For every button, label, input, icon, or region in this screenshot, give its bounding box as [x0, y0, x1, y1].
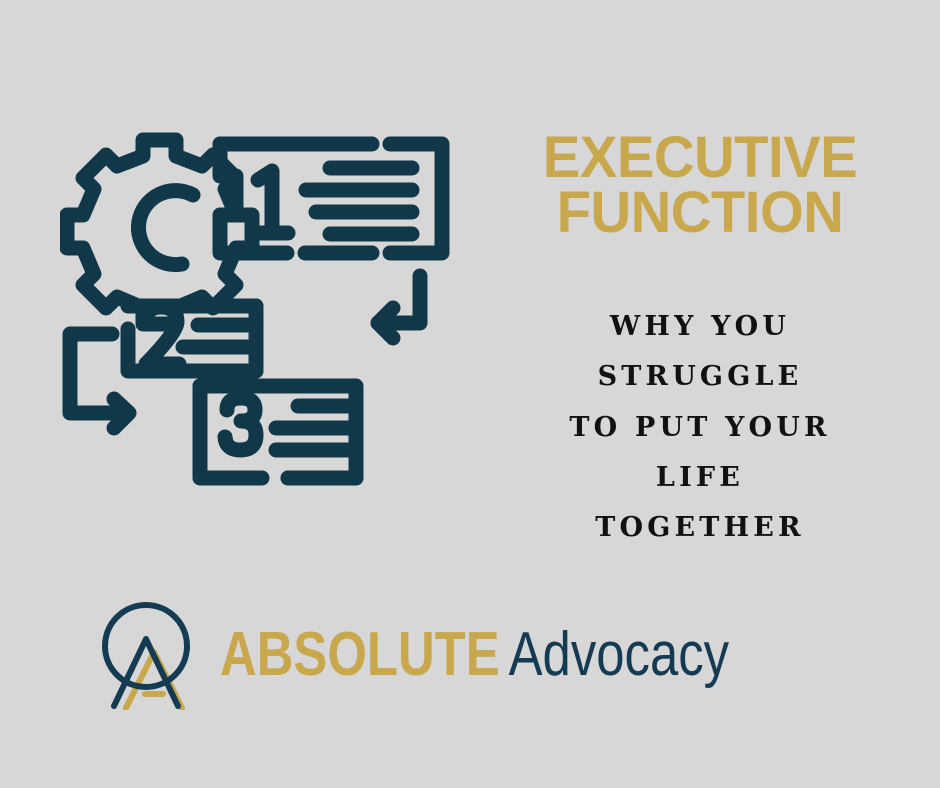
subtitle-line-5: TOGETHER — [500, 503, 900, 553]
subtitle-line-3: TO PUT YOUR — [500, 403, 900, 453]
subtitle-line-4: LIFE — [500, 453, 900, 503]
brand-name-primary: ABSOLUTE — [220, 624, 500, 686]
poster-canvas: EXECUTIVE FUNCTION WHY YOU STRUGGLE TO P… — [0, 0, 940, 788]
headline-line-1: EXECUTIVE — [506, 130, 894, 185]
artwork-panel — [60, 118, 490, 528]
brand-logo-lockup: ABSOLUTE Advocacy — [0, 596, 940, 714]
card1-numeral — [258, 171, 272, 233]
text-column: EXECUTIVE FUNCTION WHY YOU STRUGGLE TO P… — [500, 130, 900, 553]
page-title: EXECUTIVE FUNCTION — [506, 130, 894, 240]
subtitle-line-1: WHY YOU — [500, 302, 900, 352]
brand-name-secondary: Advocacy — [508, 624, 728, 686]
absolute-advocacy-arch-mark-icon — [100, 600, 204, 710]
card3-numeral — [225, 398, 256, 450]
gear-inner-arc — [138, 191, 193, 265]
process-steps-gear-icon — [60, 118, 490, 528]
subtitle-line-2: STRUGGLE — [500, 352, 900, 402]
headline-line-2: FUNCTION — [506, 185, 894, 240]
brand-wordmark: ABSOLUTE Advocacy — [220, 624, 729, 686]
card2-numeral — [146, 307, 179, 364]
page-subtitle: WHY YOU STRUGGLE TO PUT YOUR LIFE TOGETH… — [500, 240, 900, 553]
